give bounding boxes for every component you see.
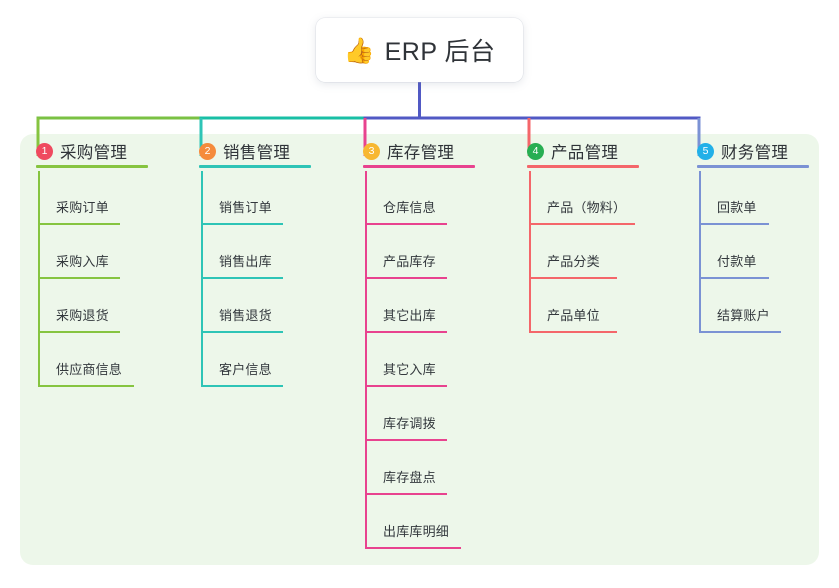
list-item-label: 出库库明细 [383,521,449,540]
column-header-underline [36,165,148,168]
list-item-label: 仓库信息 [383,197,436,216]
list-item-label: 采购退货 [56,305,109,324]
column-header-4[interactable]: 4产品管理 [511,134,618,168]
list-item[interactable]: 采购退货 [20,279,127,333]
list-item-label: 回款单 [717,197,757,216]
list-item-label: 付款单 [717,251,757,270]
column-header-1[interactable]: 1采购管理 [20,134,127,168]
column-header-underline [199,165,311,168]
column-items: 仓库信息产品库存其它出库其它入库库存调拨库存盘点出库库明细 [347,171,454,549]
list-item-underline [201,385,283,387]
list-item-label: 销售出库 [219,251,272,270]
column-header-underline [697,165,809,168]
mindmap-canvas: 👍 ERP 后台 1采购管理采购订单采购入库采购退货供应商信息2销售管理销售订单… [0,0,839,588]
list-item[interactable]: 出库库明细 [347,495,454,549]
list-item[interactable]: 仓库信息 [347,171,454,225]
column-title: 采购管理 [60,139,127,163]
list-item[interactable]: 销售订单 [183,171,290,225]
column-title: 财务管理 [721,139,788,163]
list-item-label: 库存盘点 [383,467,436,486]
list-item[interactable]: 供应商信息 [20,333,127,387]
column-title: 销售管理 [223,139,290,163]
column-5: 5财务管理回款单付款单结算账户 [681,134,788,333]
list-item-label: 销售退货 [219,305,272,324]
list-item-label: 产品（物料） [547,197,626,216]
column-header-3[interactable]: 3库存管理 [347,134,454,168]
list-item[interactable]: 销售退货 [183,279,290,333]
column-badge-icon: 2 [199,143,216,160]
column-header-5[interactable]: 5财务管理 [681,134,788,168]
list-item-label: 库存调拨 [383,413,436,432]
root-node-title: ERP 后台 [385,32,496,68]
list-item-underline [699,331,781,333]
list-item-label: 产品分类 [547,251,600,270]
column-3: 3库存管理仓库信息产品库存其它出库其它入库库存调拨库存盘点出库库明细 [347,134,454,549]
column-items: 采购订单采购入库采购退货供应商信息 [20,171,127,387]
column-title: 库存管理 [387,139,454,163]
column-2: 2销售管理销售订单销售出库销售退货客户信息 [183,134,290,387]
root-node-content: 👍 ERP 后台 [343,32,495,68]
thumbs-up-icon: 👍 [343,38,374,63]
list-item-label: 产品单位 [547,305,600,324]
list-item[interactable]: 销售出库 [183,225,290,279]
column-badge-icon: 3 [363,143,380,160]
column-badge-icon: 5 [697,143,714,160]
column-1: 1采购管理采购订单采购入库采购退货供应商信息 [20,134,127,387]
list-item[interactable]: 采购入库 [20,225,127,279]
list-item-label: 结算账户 [717,305,770,324]
list-item[interactable]: 产品单位 [511,279,618,333]
column-items: 产品（物料）产品分类产品单位 [511,171,618,333]
list-item-underline [365,547,461,549]
list-item[interactable]: 回款单 [681,171,788,225]
root-node[interactable]: 👍 ERP 后台 [316,18,523,82]
list-item[interactable]: 产品分类 [511,225,618,279]
list-item-label: 产品库存 [383,251,436,270]
list-item-underline [38,385,134,387]
list-item[interactable]: 产品（物料） [511,171,618,225]
list-item-label: 客户信息 [219,359,272,378]
column-items: 销售订单销售出库销售退货客户信息 [183,171,290,387]
list-item[interactable]: 其它出库 [347,279,454,333]
list-item[interactable]: 库存盘点 [347,441,454,495]
list-item[interactable]: 付款单 [681,225,788,279]
list-item[interactable]: 库存调拨 [347,387,454,441]
list-item-underline [529,331,617,333]
list-item-label: 采购订单 [56,197,109,216]
column-header-2[interactable]: 2销售管理 [183,134,290,168]
list-item[interactable]: 客户信息 [183,333,290,387]
list-item-label: 销售订单 [219,197,272,216]
column-badge-icon: 4 [527,143,544,160]
list-item[interactable]: 结算账户 [681,279,788,333]
column-header-underline [527,165,639,168]
list-item[interactable]: 其它入库 [347,333,454,387]
list-item-label: 供应商信息 [56,359,122,378]
column-header-underline [363,165,475,168]
column-items: 回款单付款单结算账户 [681,171,788,333]
list-item-label: 其它入库 [383,359,436,378]
list-item-label: 其它出库 [383,305,436,324]
list-item[interactable]: 产品库存 [347,225,454,279]
list-item-label: 采购入库 [56,251,109,270]
column-4: 4产品管理产品（物料）产品分类产品单位 [511,134,618,333]
list-item[interactable]: 采购订单 [20,171,127,225]
column-title: 产品管理 [551,139,618,163]
column-badge-icon: 1 [36,143,53,160]
